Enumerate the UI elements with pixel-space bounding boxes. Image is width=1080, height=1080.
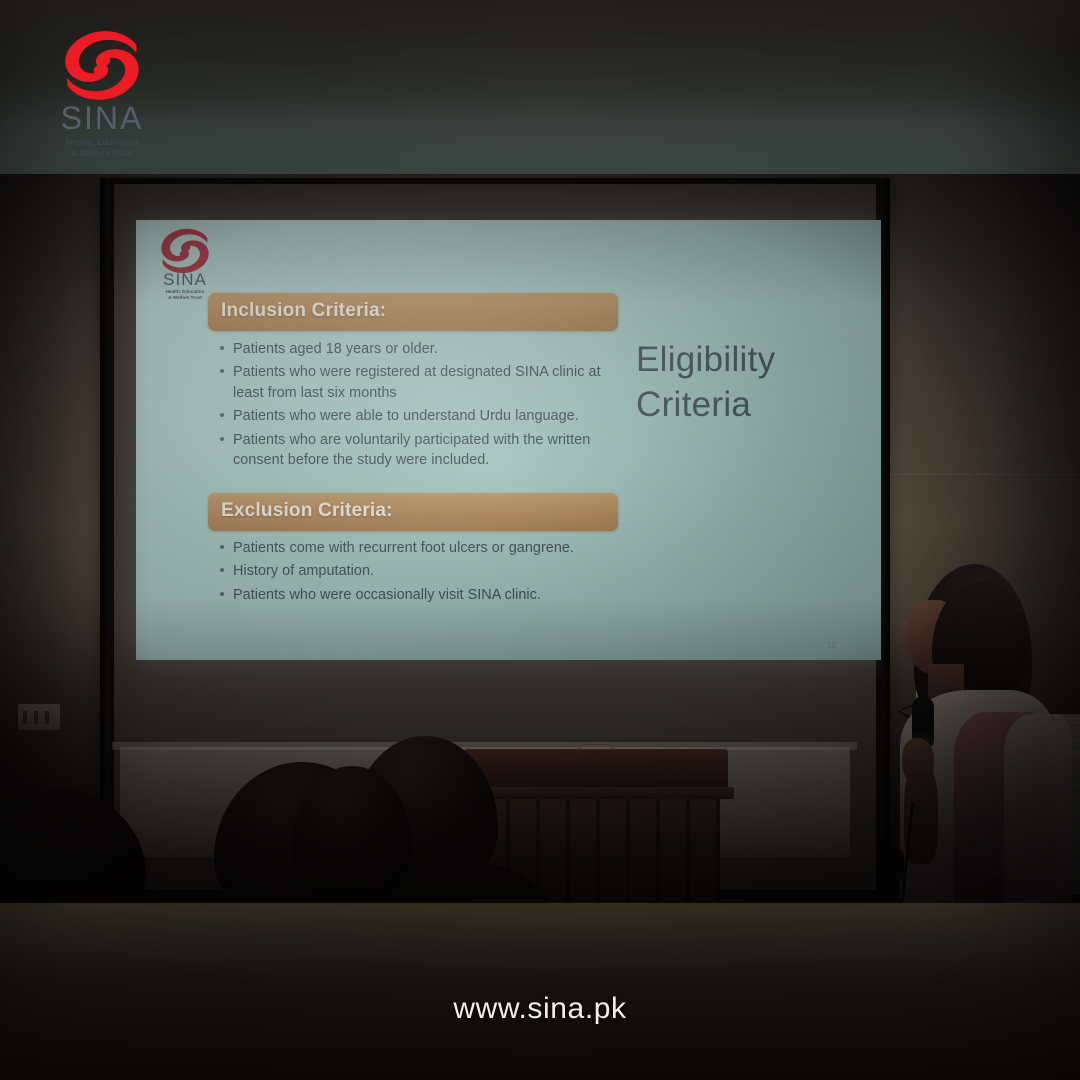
- slide-sina-logo: SINA Health, Education & Welfare Trust: [148, 228, 222, 301]
- list-item: Patients aged 18 years or older.: [218, 339, 618, 359]
- presentation-slide: SINA Health, Education & Welfare Trust I…: [136, 220, 884, 660]
- list-item: History of amputation.: [218, 561, 618, 581]
- exclusion-criteria-heading: Exclusion Criteria:: [221, 500, 393, 522]
- brand-name: SINA: [37, 102, 167, 134]
- slide-title: Eligibility Criteria: [636, 338, 866, 428]
- inclusion-criteria-heading-bar: Inclusion Criteria:: [208, 293, 618, 331]
- slide-title-line2: Criteria: [636, 383, 866, 428]
- exclusion-criteria-list: Patients come with recurrent foot ulcers…: [218, 538, 618, 608]
- inclusion-criteria-heading: Inclusion Criteria:: [221, 300, 386, 322]
- brand-tagline: Health, Education & Welfare Trust: [37, 137, 167, 160]
- sina-swirl-logo-icon: [54, 30, 150, 100]
- social-media-post: SINA Health, Education & Welfare Trust: [0, 0, 1080, 1080]
- left-wall-socket-icon: [18, 704, 60, 730]
- list-item: Patients who were occasionally visit SIN…: [218, 585, 618, 605]
- website-url[interactable]: www.sina.pk: [453, 992, 626, 1026]
- list-item: Patients who were able to understand Urd…: [218, 406, 618, 426]
- slide-title-line1: Eligibility: [636, 338, 866, 383]
- presenter: [880, 564, 1080, 903]
- list-item: Patients who are voluntarily participate…: [218, 430, 618, 471]
- brand-tagline-line2: & Welfare Trust: [37, 148, 167, 159]
- second-microphone-icon: [888, 850, 904, 880]
- brand-logo: SINA Health, Education & Welfare Trust: [37, 30, 167, 160]
- exclusion-criteria-heading-bar: Exclusion Criteria:: [208, 493, 618, 531]
- slide-sina-swirl-logo-icon: [154, 228, 216, 270]
- list-item: Patients come with recurrent foot ulcers…: [218, 538, 618, 558]
- footer-bar: www.sina.pk: [0, 903, 1080, 1080]
- event-photograph: SINA Health, Education & Welfare Trust I…: [0, 174, 1080, 903]
- slide-page-number: 10: [827, 641, 836, 650]
- list-item: Patients who were registered at designat…: [218, 362, 618, 403]
- brand-tagline-line1: Health, Education: [37, 137, 167, 148]
- inclusion-criteria-list: Patients aged 18 years or older. Patient…: [218, 339, 618, 474]
